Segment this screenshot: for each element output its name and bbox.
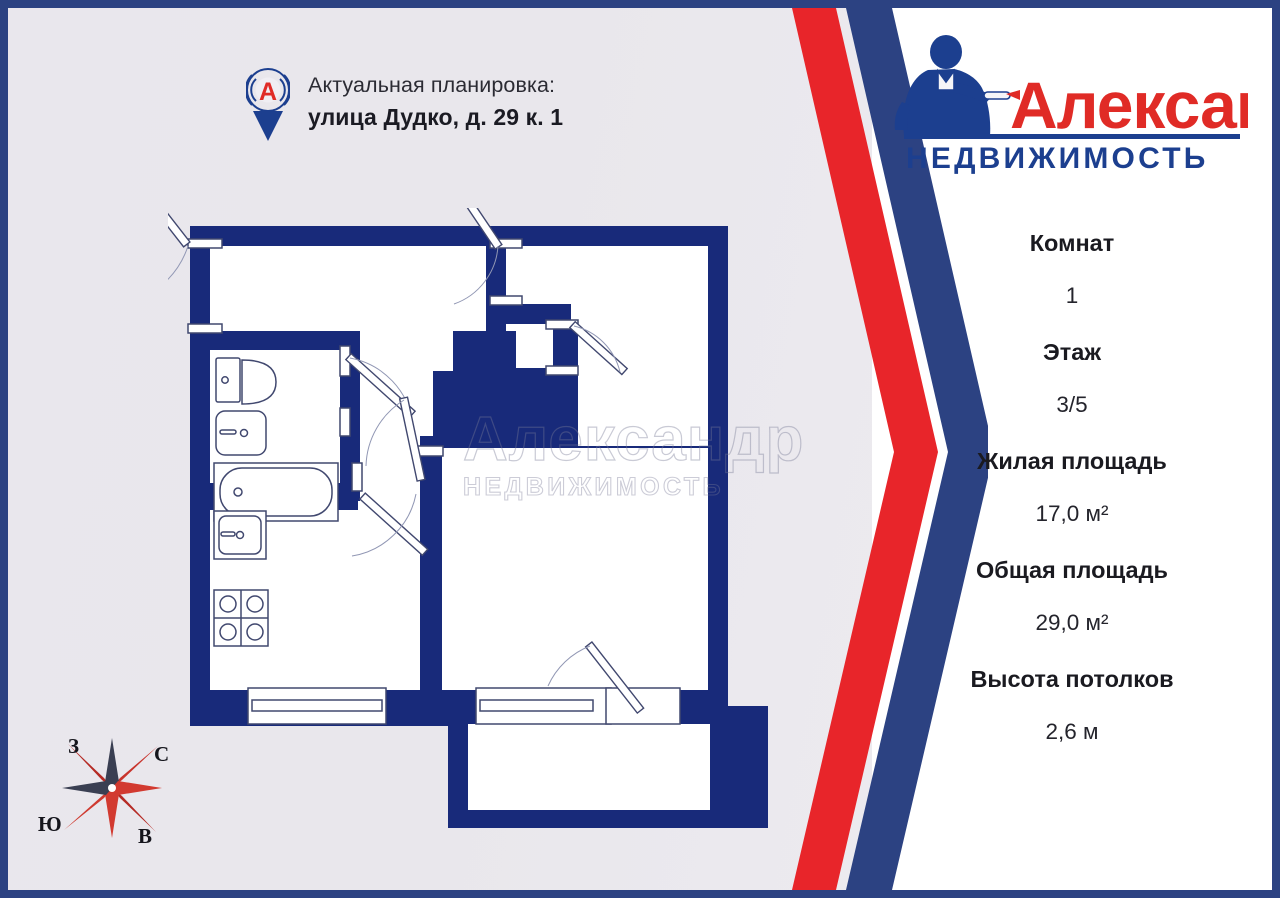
kitchen-sink-icon — [214, 511, 266, 559]
spec-item: Общая площадь 29,0 м² — [872, 557, 1272, 636]
compass-rose-icon: З С Ю В — [34, 720, 194, 860]
spec-value: 1 — [872, 283, 1272, 309]
compass-south-label: Ю — [38, 812, 62, 837]
property-specs: Комнат 1 Этаж 3/5 Жилая площадь 17,0 м² … — [872, 230, 1272, 775]
compass-west-label: З — [68, 734, 79, 759]
spec-item: Жилая площадь 17,0 м² — [872, 448, 1272, 527]
compass-east-label: В — [138, 824, 152, 849]
brand-logo: Александр НЕДВИЖИМОСТЬ — [892, 30, 1248, 178]
spec-value: 2,6 м — [872, 719, 1272, 745]
washbasin-icon — [216, 411, 266, 455]
room-window — [476, 688, 611, 724]
spec-item: Этаж 3/5 — [872, 339, 1272, 418]
spec-label: Комнат — [872, 230, 1272, 257]
logo-brand: Александр — [1010, 68, 1248, 142]
svg-text:А: А — [259, 78, 277, 106]
spec-item: Комнат 1 — [872, 230, 1272, 309]
kitchen-window — [248, 688, 386, 724]
spec-value: 29,0 м² — [872, 610, 1272, 636]
stove-icon — [214, 590, 268, 646]
spec-item: Высота потолков 2,6 м — [872, 666, 1272, 745]
spec-label: Этаж — [872, 339, 1272, 366]
header: А Актуальная планировка: улица Дудко, д.… — [246, 63, 563, 145]
floorplan-drawing: .w { fill:#182a7a; } .rm { fill:#ffffff;… — [168, 208, 768, 828]
header-address: улица Дудко, д. 29 к. 1 — [308, 101, 563, 133]
spec-label: Жилая площадь — [872, 448, 1272, 475]
spec-value: 17,0 м² — [872, 501, 1272, 527]
compass-north-label: С — [154, 742, 169, 767]
spec-value: 3/5 — [872, 392, 1272, 418]
spec-label: Общая площадь — [872, 557, 1272, 584]
floorplan-card: А Актуальная планировка: улица Дудко, д.… — [0, 0, 1280, 898]
map-pin-icon: А — [246, 63, 290, 145]
header-caption: Актуальная планировка: — [308, 71, 563, 101]
toilet-icon — [216, 358, 276, 404]
logo-tagline: НЕДВИЖИМОСТЬ — [906, 142, 1208, 175]
spec-label: Высота потолков — [872, 666, 1272, 693]
